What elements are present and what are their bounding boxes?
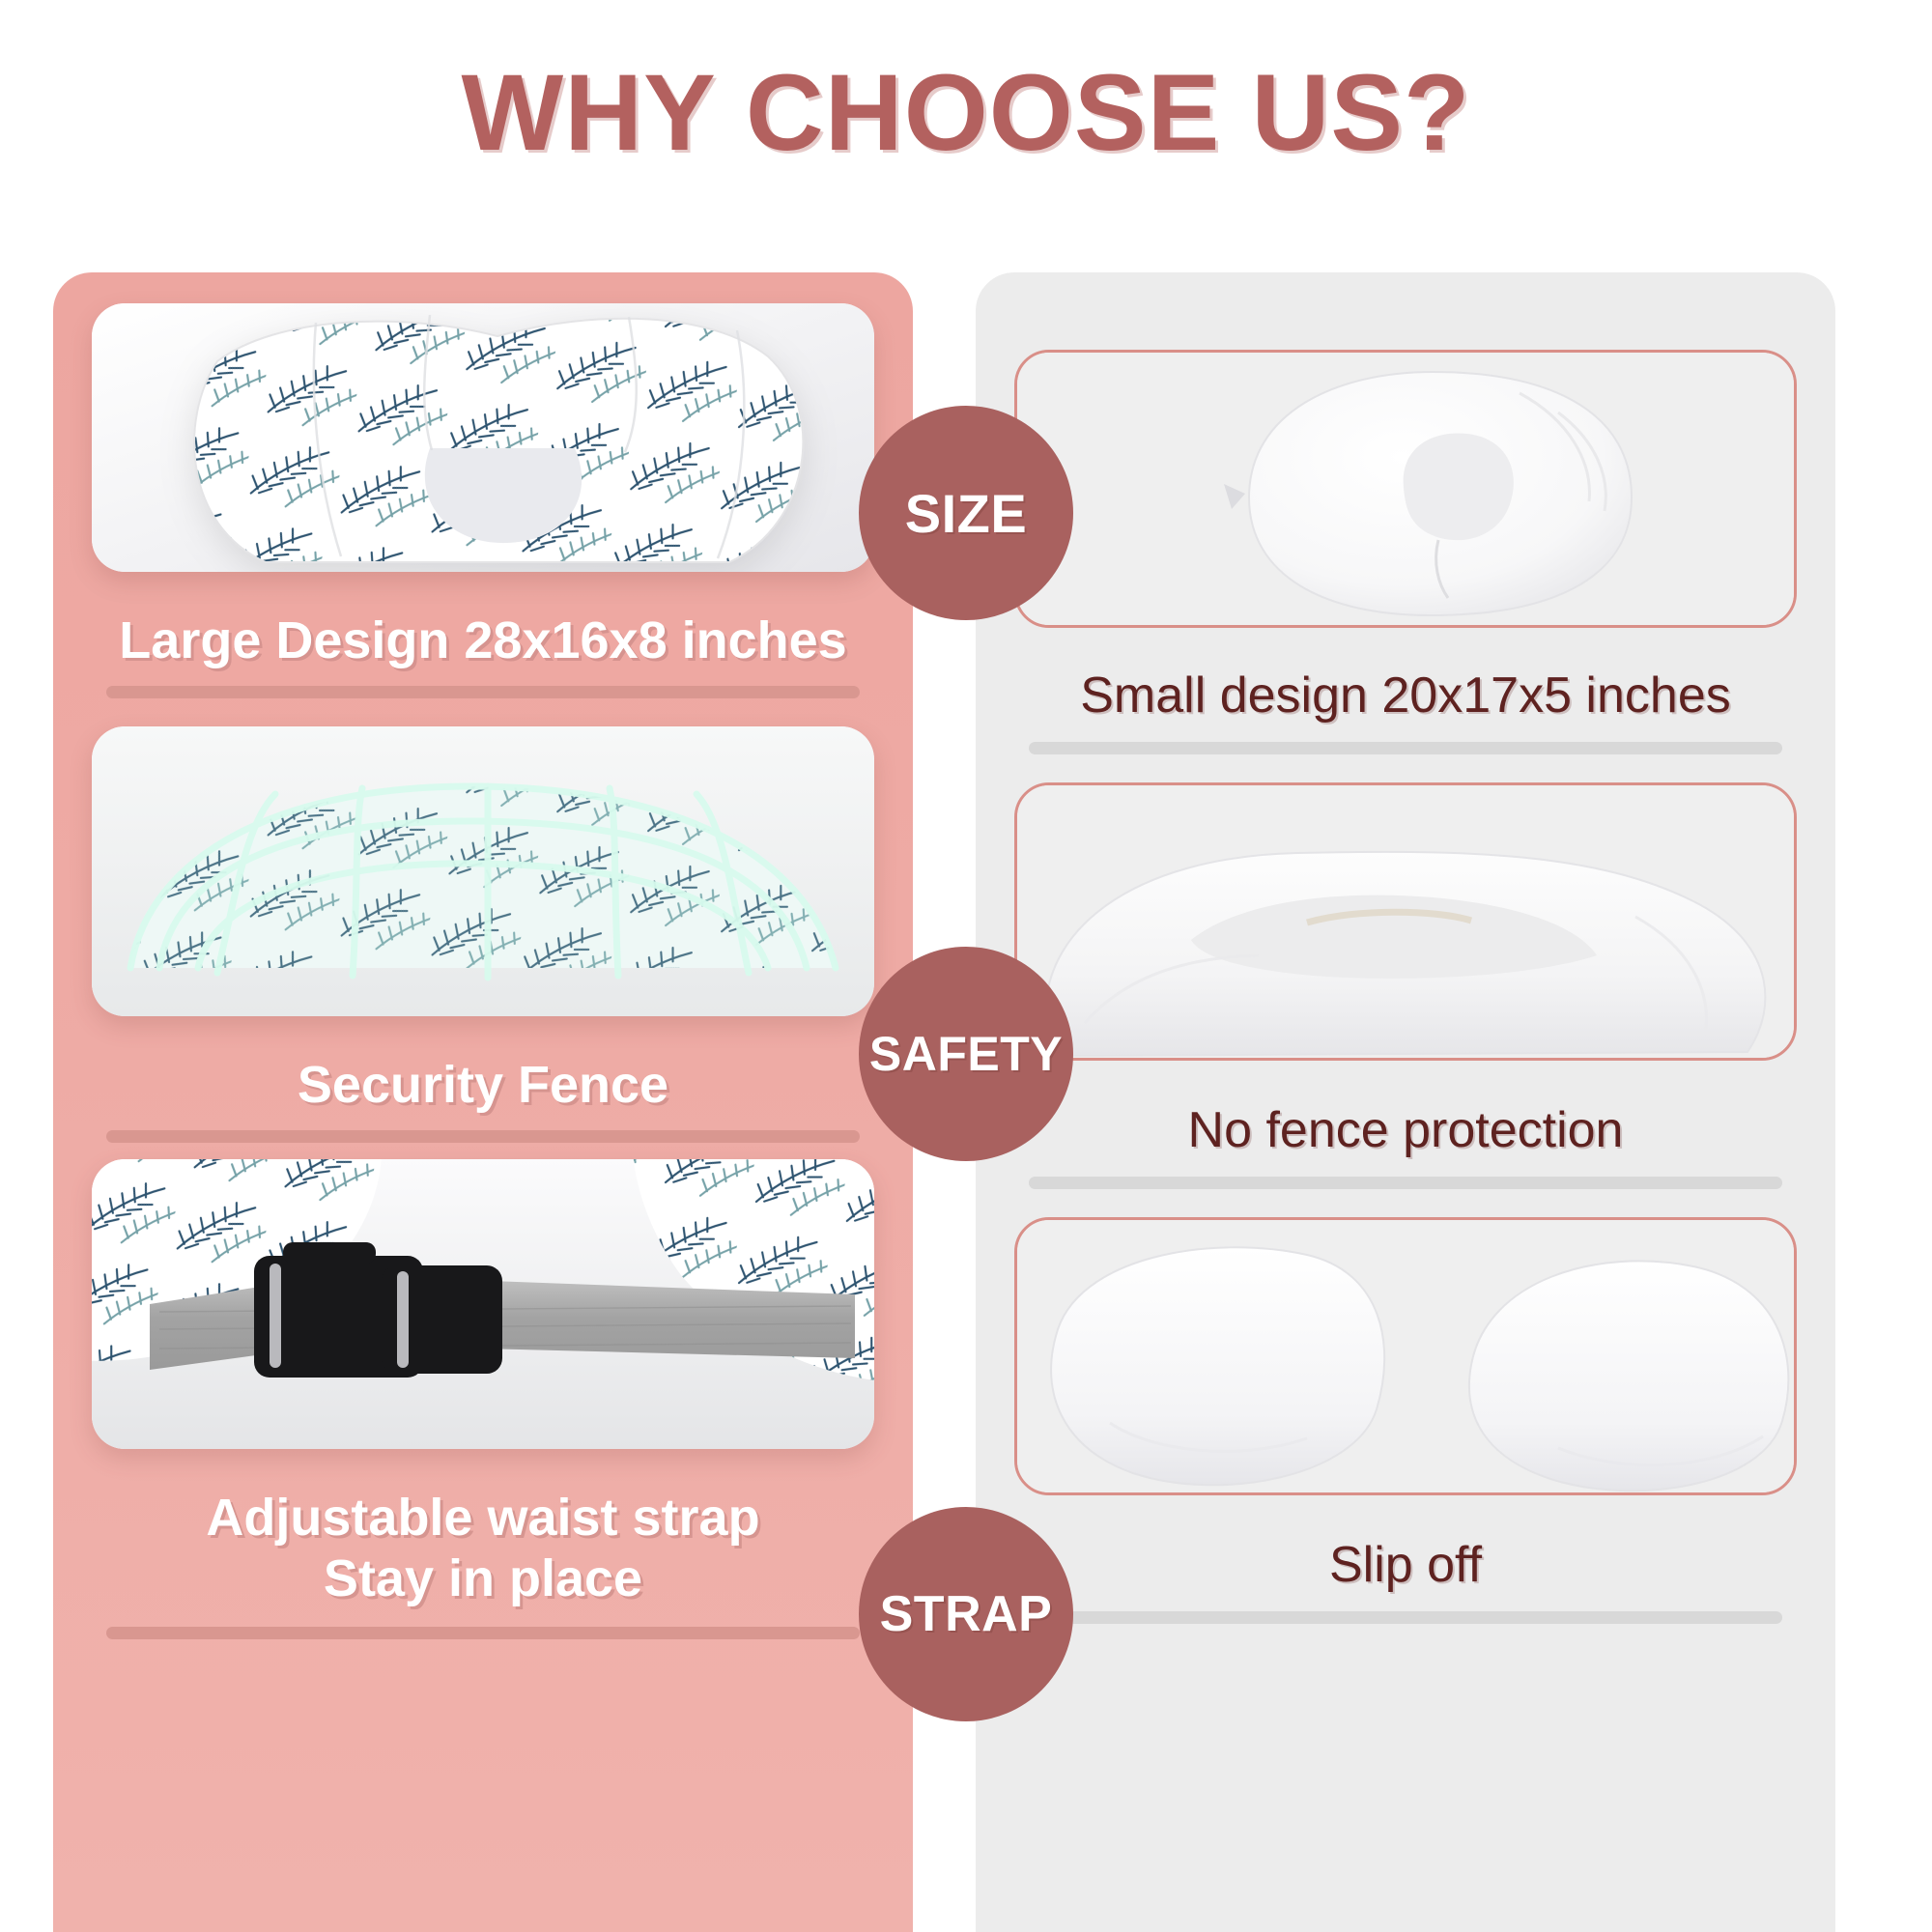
right-caption-safety: No fence protection [976,1101,1835,1159]
right-image-card-safety [1014,782,1797,1061]
left-column-our-product: Large Design 28x16x8 inches [53,272,913,1932]
right-column-other-product: Small design 20x17x5 inches [976,272,1835,1932]
security-fence-illustration [92,726,874,1016]
left-caption-strap: Adjustable waist strap Stay in place [53,1488,913,1608]
left-divider-2 [106,1130,860,1143]
adjustable-waist-strap-illustration [92,1159,874,1449]
badge-size: SIZE [859,406,1073,620]
badge-size-label: SIZE [905,482,1027,545]
pillow-slipping-apart-illustration [1017,1220,1797,1495]
right-image-card-size [1014,350,1797,628]
patterned-pillow-large-illustration [92,303,874,572]
left-image-card-safety [92,726,874,1016]
infographic-page: WHY CHOOSE US? [0,0,1932,1932]
left-caption-strap-line1: Adjustable waist strap [53,1488,913,1548]
right-divider-3 [1029,1611,1782,1624]
badge-safety: SAFETY [859,947,1073,1161]
left-caption-size: Large Design 28x16x8 inches [53,611,913,671]
left-caption-safety: Security Fence [53,1055,913,1116]
right-divider-1 [1029,742,1782,754]
pillow-no-fence-illustration [1017,785,1797,1061]
right-caption-strap: Slip off [976,1536,1835,1594]
badge-safety-label: SAFETY [869,1026,1063,1082]
left-image-card-size [92,303,874,572]
page-title: WHY CHOOSE US? [0,50,1932,175]
left-image-card-strap [92,1159,874,1449]
left-divider-3 [106,1627,860,1639]
badge-strap-label: STRAP [880,1585,1053,1643]
left-caption-strap-line2: Stay in place [53,1548,913,1609]
right-image-card-strap [1014,1217,1797,1495]
badge-strap: STRAP [859,1507,1073,1721]
left-divider-1 [106,686,860,698]
small-white-pillow-illustration [1017,353,1797,628]
right-caption-size: Small design 20x17x5 inches [976,667,1835,724]
right-divider-2 [1029,1177,1782,1189]
